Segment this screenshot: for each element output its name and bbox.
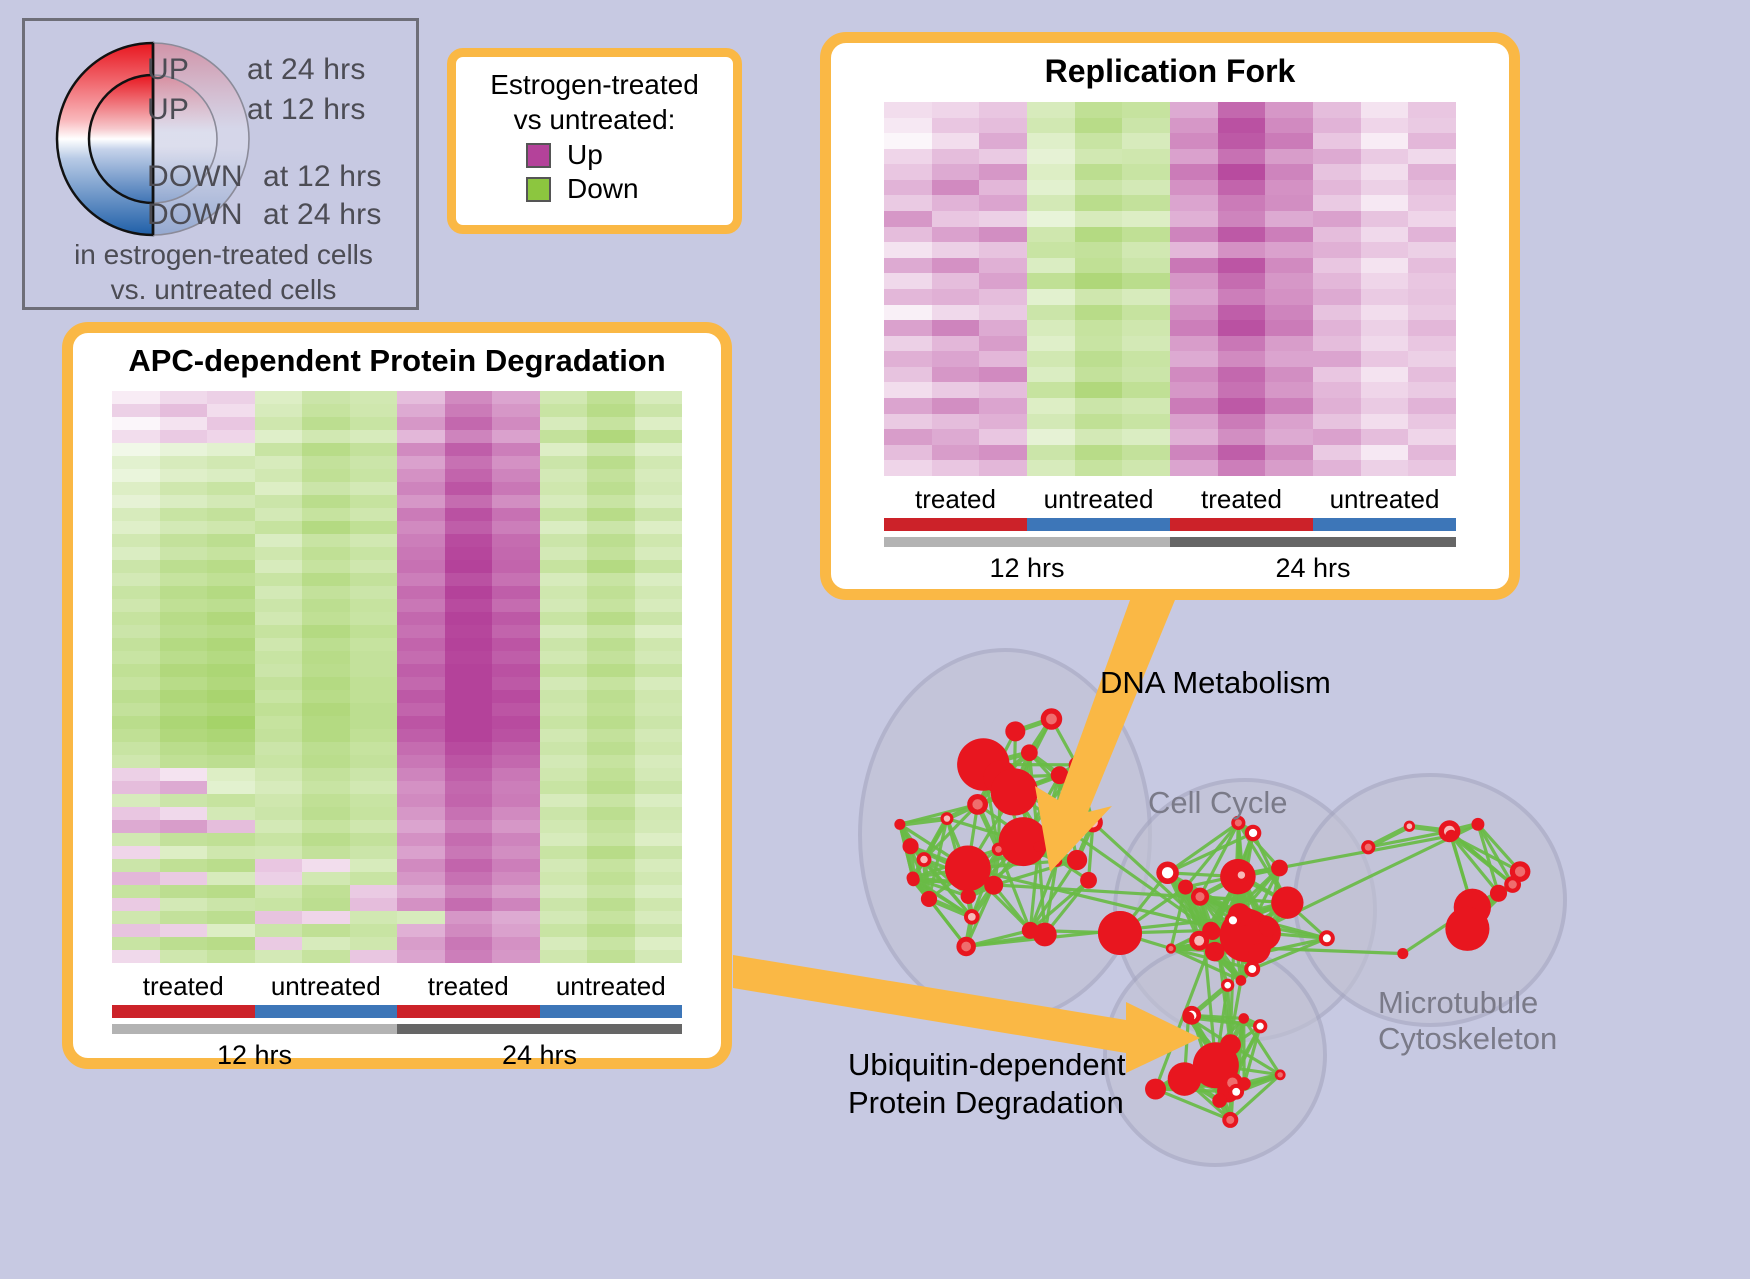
heatmap-cell bbox=[884, 460, 932, 476]
heatmap-cell bbox=[492, 937, 540, 950]
network-node[interactable] bbox=[902, 838, 918, 854]
heatmap-cell bbox=[160, 885, 208, 898]
heatmap-cell bbox=[540, 599, 588, 612]
heatmap-cell bbox=[302, 950, 350, 963]
network-node[interactable] bbox=[1245, 825, 1262, 842]
heatmap-cell bbox=[207, 898, 255, 911]
heatmap-cell bbox=[207, 586, 255, 599]
heatmap-cell bbox=[160, 794, 208, 807]
heatmap-cell bbox=[979, 414, 1027, 430]
heatmap-cell bbox=[160, 911, 208, 924]
heatmap-cell bbox=[635, 469, 683, 482]
heatmap-cell bbox=[979, 195, 1027, 211]
network-node[interactable] bbox=[1022, 922, 1039, 939]
heatmap-cell bbox=[540, 625, 588, 638]
heatmap-cell bbox=[397, 677, 445, 690]
heatmap-cell bbox=[160, 599, 208, 612]
heatmap-cell bbox=[1122, 227, 1170, 243]
network-node[interactable] bbox=[1222, 1112, 1238, 1128]
heatmap-cell bbox=[932, 195, 980, 211]
heatmap-cell bbox=[932, 149, 980, 165]
heatmap-cell bbox=[1027, 242, 1075, 258]
heatmap-cell bbox=[1265, 242, 1313, 258]
heatmap-cell bbox=[445, 560, 493, 573]
heatmap-cell bbox=[979, 336, 1027, 352]
network-node[interactable] bbox=[956, 937, 975, 956]
heatmap-cell bbox=[445, 547, 493, 560]
network-node[interactable] bbox=[1041, 708, 1063, 730]
network-node[interactable] bbox=[1504, 876, 1521, 893]
heatmap-cell bbox=[884, 336, 932, 352]
heatmap-cell bbox=[445, 482, 493, 495]
heatmap-cell bbox=[1361, 414, 1409, 430]
heatmap-cell bbox=[207, 469, 255, 482]
network-node[interactable] bbox=[1145, 1079, 1166, 1100]
heatmap-cell bbox=[302, 599, 350, 612]
heatmap-cell bbox=[540, 404, 588, 417]
heatmap-cell bbox=[1408, 164, 1456, 180]
timepoint-bar-24hrs bbox=[1170, 537, 1456, 547]
heatmap-cell bbox=[492, 547, 540, 560]
network-node[interactable] bbox=[1445, 907, 1489, 951]
heatmap-cell bbox=[635, 573, 683, 586]
network-node[interactable] bbox=[1156, 862, 1179, 885]
network-node[interactable] bbox=[1490, 885, 1507, 902]
heatmap-cell bbox=[445, 638, 493, 651]
network-node[interactable] bbox=[1361, 840, 1375, 854]
network-node[interactable] bbox=[1234, 868, 1249, 883]
heatmap-cell bbox=[1408, 258, 1456, 274]
heatmap-cell bbox=[397, 547, 445, 560]
network-node[interactable] bbox=[1271, 887, 1303, 919]
heatmap-cell bbox=[112, 716, 160, 729]
heatmap-cell bbox=[492, 586, 540, 599]
heatmap-cell bbox=[255, 651, 303, 664]
network-node[interactable] bbox=[1248, 944, 1267, 963]
heatmap-cell bbox=[540, 716, 588, 729]
heatmap-cell bbox=[255, 469, 303, 482]
heatmap-cell bbox=[1361, 273, 1409, 289]
heatmap-cell bbox=[302, 807, 350, 820]
network-node[interactable] bbox=[1253, 1019, 1267, 1033]
heatmap-cell bbox=[350, 599, 398, 612]
heatmap-cell bbox=[540, 456, 588, 469]
heatmap-cell bbox=[492, 521, 540, 534]
heatmap-cell bbox=[1313, 258, 1361, 274]
heatmap-cell bbox=[207, 521, 255, 534]
network-node[interactable] bbox=[907, 874, 920, 887]
heatmap-cell bbox=[255, 430, 303, 443]
heatmap-cell bbox=[207, 807, 255, 820]
heatmap-cell bbox=[492, 911, 540, 924]
heatmap-cell bbox=[160, 482, 208, 495]
heatmap-cell bbox=[255, 885, 303, 898]
heatmap-cell bbox=[350, 950, 398, 963]
heatmap-cell bbox=[1265, 289, 1313, 305]
network-node[interactable] bbox=[1021, 744, 1038, 761]
network-node[interactable] bbox=[1182, 1012, 1194, 1024]
heatmap-cell bbox=[1265, 180, 1313, 196]
heatmap-cell bbox=[445, 456, 493, 469]
heatmap-cell bbox=[1408, 351, 1456, 367]
heatmap-cell bbox=[540, 430, 588, 443]
heatmap-cell bbox=[1122, 149, 1170, 165]
heatmap-cell bbox=[1170, 289, 1218, 305]
heatmap-cell bbox=[587, 768, 635, 781]
heatmap-cell bbox=[1218, 102, 1266, 118]
condition-label: treated bbox=[397, 971, 540, 1002]
heatmap-cell bbox=[492, 456, 540, 469]
heatmap-cell bbox=[112, 833, 160, 846]
heatmap-cell bbox=[1361, 382, 1409, 398]
heatmap-cell bbox=[884, 180, 932, 196]
network-node[interactable] bbox=[1238, 1013, 1249, 1024]
heatmap-cell bbox=[635, 404, 683, 417]
heatmap-cell bbox=[587, 391, 635, 404]
heatmap-cell bbox=[884, 133, 932, 149]
heatmap-cell bbox=[302, 508, 350, 521]
heatmap-cell bbox=[1075, 211, 1123, 227]
heatmap-cell bbox=[1122, 102, 1170, 118]
network-node[interactable] bbox=[999, 817, 1048, 866]
heatmap-cell bbox=[160, 846, 208, 859]
condition-bar-treated bbox=[112, 1005, 255, 1018]
heatmap-cell bbox=[587, 924, 635, 937]
heatmap-cell bbox=[160, 677, 208, 690]
timepoint-labels-replication-fork: 12 hrs24 hrs bbox=[884, 553, 1456, 584]
heatmap-cell bbox=[112, 573, 160, 586]
heatmap-cell bbox=[1170, 305, 1218, 321]
heatmap-cell bbox=[635, 898, 683, 911]
network-node[interactable] bbox=[1397, 948, 1408, 959]
network-node[interactable] bbox=[1051, 856, 1062, 867]
heatmap-cell bbox=[492, 859, 540, 872]
heatmap-cell bbox=[492, 508, 540, 521]
condition-bar-treated bbox=[397, 1005, 540, 1018]
heatmap-cell bbox=[1218, 164, 1266, 180]
heatmap-cell bbox=[350, 612, 398, 625]
network-node[interactable] bbox=[992, 843, 1005, 856]
network-node[interactable] bbox=[1212, 1093, 1227, 1108]
heatmap-cell bbox=[302, 443, 350, 456]
heatmap-cell bbox=[255, 859, 303, 872]
heatmap-cell bbox=[884, 258, 932, 274]
heatmap-cell bbox=[255, 729, 303, 742]
heatmap-cell bbox=[302, 716, 350, 729]
network-node[interactable] bbox=[1178, 880, 1193, 895]
condition-bar-untreated bbox=[540, 1005, 683, 1018]
heatmap-cell bbox=[350, 820, 398, 833]
heatmap-cell bbox=[445, 833, 493, 846]
heatmap-cell bbox=[1027, 289, 1075, 305]
network-node[interactable] bbox=[1005, 721, 1025, 741]
figure-canvas: UP at 24 hrs UP at 12 hrs DOWN at 12 hrs… bbox=[0, 0, 1750, 1279]
condition-label: untreated bbox=[540, 971, 683, 1002]
heatmap-cell bbox=[255, 612, 303, 625]
network-node[interactable] bbox=[921, 891, 937, 907]
heatmap-cell bbox=[1170, 445, 1218, 461]
heatmap-cell bbox=[350, 664, 398, 677]
network-node[interactable] bbox=[1271, 860, 1288, 877]
heatmap-cell bbox=[160, 456, 208, 469]
heatmap-cell bbox=[1122, 242, 1170, 258]
network-node[interactable] bbox=[917, 852, 932, 867]
heatmap-cell bbox=[350, 534, 398, 547]
heatmap-cell bbox=[397, 625, 445, 638]
heatmap-cell bbox=[160, 586, 208, 599]
network-node[interactable] bbox=[1404, 821, 1415, 832]
heatmap-cell bbox=[397, 651, 445, 664]
heatmap-cell bbox=[884, 118, 932, 134]
heatmap-cell bbox=[492, 924, 540, 937]
heatmap-cell bbox=[932, 460, 980, 476]
network-node[interactable] bbox=[1244, 961, 1260, 977]
heatmap-cell bbox=[884, 305, 932, 321]
heatmap-cell bbox=[1170, 367, 1218, 383]
heatmap-cell bbox=[932, 351, 980, 367]
heatmap-cell bbox=[884, 195, 932, 211]
heatmap-cell bbox=[255, 664, 303, 677]
network-node[interactable] bbox=[984, 876, 1003, 895]
network-node[interactable] bbox=[1080, 872, 1097, 889]
heatmap-cell bbox=[160, 521, 208, 534]
heatmap-cell bbox=[1265, 164, 1313, 180]
ring-legend-box: UP at 24 hrs UP at 12 hrs DOWN at 12 hrs… bbox=[22, 18, 419, 310]
heatmap-cell bbox=[160, 547, 208, 560]
heatmap-cell bbox=[1075, 149, 1123, 165]
heatmap-cell bbox=[255, 573, 303, 586]
heatmap-cell bbox=[207, 937, 255, 950]
heatmap-cell bbox=[160, 612, 208, 625]
heatmap-cell bbox=[1122, 429, 1170, 445]
heatmap-cell bbox=[1027, 336, 1075, 352]
heatmap-cell bbox=[635, 495, 683, 508]
heatmap-cell bbox=[445, 781, 493, 794]
heatmap-cell bbox=[540, 742, 588, 755]
network-node[interactable] bbox=[894, 819, 905, 830]
heatmap-cell bbox=[112, 742, 160, 755]
condition-label: treated bbox=[884, 484, 1027, 515]
heatmap-cell bbox=[1361, 367, 1409, 383]
heatmap-cell bbox=[160, 391, 208, 404]
heatmap-cell bbox=[1122, 414, 1170, 430]
network-node[interactable] bbox=[1259, 918, 1278, 937]
heatmap-cell bbox=[255, 547, 303, 560]
heatmap-cell bbox=[932, 242, 980, 258]
heatmap-cell bbox=[350, 846, 398, 859]
heatmap-cell bbox=[540, 612, 588, 625]
heatmap-cell bbox=[1170, 133, 1218, 149]
heatmap-cell bbox=[1075, 258, 1123, 274]
network-node[interactable] bbox=[1067, 850, 1087, 870]
heatmap-cell bbox=[492, 625, 540, 638]
heatmap-cell bbox=[1313, 429, 1361, 445]
heatmap-cell bbox=[1027, 258, 1075, 274]
network-node[interactable] bbox=[1220, 1034, 1241, 1055]
heatmap-cell bbox=[884, 429, 932, 445]
heatmap-cell bbox=[445, 703, 493, 716]
heatmap-cell bbox=[1122, 195, 1170, 211]
heatmap-cell bbox=[635, 664, 683, 677]
down-color-swatch bbox=[526, 177, 551, 202]
heatmap-cell bbox=[492, 391, 540, 404]
heatmap-cell bbox=[160, 729, 208, 742]
network-node[interactable] bbox=[1221, 979, 1234, 992]
heatmap-cell bbox=[492, 898, 540, 911]
heatmap-cell bbox=[112, 482, 160, 495]
network-node[interactable] bbox=[945, 845, 991, 891]
network-node[interactable] bbox=[967, 794, 988, 815]
heatmap-cell bbox=[1361, 211, 1409, 227]
heatmap-cell bbox=[1265, 305, 1313, 321]
network-node[interactable] bbox=[961, 889, 976, 904]
heatmap-cell bbox=[1408, 180, 1456, 196]
heatmap-cell bbox=[1122, 273, 1170, 289]
heatmap-cell bbox=[350, 937, 398, 950]
heatmap-cell bbox=[255, 703, 303, 716]
network-node[interactable] bbox=[1098, 911, 1142, 955]
panel-apc-degradation: APC-dependent Protein Degradation treate… bbox=[62, 322, 732, 1069]
network-node[interactable] bbox=[941, 812, 954, 825]
heatmap-cell bbox=[350, 781, 398, 794]
heatmap-cell bbox=[492, 768, 540, 781]
heatmap-cell bbox=[302, 937, 350, 950]
network-node[interactable] bbox=[1202, 922, 1219, 939]
heatmap-cell bbox=[540, 846, 588, 859]
panel-replication-fork: Replication Fork treateduntreatedtreated… bbox=[820, 32, 1520, 600]
heatmap-cell bbox=[397, 599, 445, 612]
heatmap-cell bbox=[302, 560, 350, 573]
heatmap-cell bbox=[492, 677, 540, 690]
heatmap-cell bbox=[492, 404, 540, 417]
heatmap-cell bbox=[1265, 320, 1313, 336]
heatmap-cell bbox=[635, 625, 683, 638]
heatmap-cell bbox=[445, 950, 493, 963]
heatmap-cell bbox=[492, 495, 540, 508]
network-node[interactable] bbox=[1033, 842, 1043, 852]
heatmap-cell bbox=[302, 911, 350, 924]
heatmap-cell bbox=[1218, 320, 1266, 336]
heatmap-cell bbox=[587, 911, 635, 924]
panel-title-replication-fork: Replication Fork bbox=[831, 53, 1509, 90]
network-node[interactable] bbox=[1471, 818, 1484, 831]
timepoint-label: 12 hrs bbox=[112, 1040, 397, 1071]
heatmap-cell bbox=[160, 781, 208, 794]
heatmap-cell bbox=[1218, 429, 1266, 445]
network-node[interactable] bbox=[964, 909, 980, 925]
heatmap-cell bbox=[302, 924, 350, 937]
heatmap-cell bbox=[255, 677, 303, 690]
heatmap-cell bbox=[587, 404, 635, 417]
heatmap-cell bbox=[540, 885, 588, 898]
heatmap-cell bbox=[1361, 320, 1409, 336]
heatmap-cell bbox=[350, 729, 398, 742]
network-node[interactable] bbox=[991, 768, 1038, 815]
network-node[interactable] bbox=[1213, 943, 1223, 953]
heatmap-cell bbox=[207, 742, 255, 755]
heatmap-cell bbox=[1170, 242, 1218, 258]
heatmap-cell bbox=[884, 382, 932, 398]
heatmap-cell bbox=[112, 638, 160, 651]
heatmap-cell bbox=[635, 716, 683, 729]
network-node[interactable] bbox=[1166, 943, 1176, 953]
network-node[interactable] bbox=[1051, 766, 1069, 784]
heatmap-cell bbox=[540, 924, 588, 937]
network-node[interactable] bbox=[1238, 1077, 1251, 1090]
heatmap-cell bbox=[932, 102, 980, 118]
heatmap-cell bbox=[255, 924, 303, 937]
heatmap-cell bbox=[635, 586, 683, 599]
network-node[interactable] bbox=[1083, 813, 1103, 833]
heatmap-cell bbox=[932, 305, 980, 321]
heatmap-cell bbox=[1313, 195, 1361, 211]
heatmap-cell bbox=[302, 534, 350, 547]
heatmap-cell bbox=[207, 833, 255, 846]
heatmap-cell bbox=[112, 417, 160, 430]
heatmap-cell bbox=[932, 118, 980, 134]
heatmap-cell bbox=[1218, 414, 1266, 430]
heatmap-cell bbox=[255, 833, 303, 846]
heatmap-cell bbox=[1361, 242, 1409, 258]
heatmap-cell bbox=[1122, 367, 1170, 383]
heatmap-cell bbox=[112, 846, 160, 859]
heatmap-cell bbox=[160, 768, 208, 781]
heatmap-cell bbox=[1075, 414, 1123, 430]
heatmap-cell bbox=[979, 118, 1027, 134]
network-node[interactable] bbox=[1275, 1069, 1286, 1080]
heatmap-cell bbox=[1361, 164, 1409, 180]
heatmap-cell bbox=[587, 443, 635, 456]
heatmap-cell bbox=[350, 677, 398, 690]
heatmap-cell bbox=[1265, 133, 1313, 149]
heatmap-cell bbox=[397, 898, 445, 911]
heatmap-cell bbox=[207, 820, 255, 833]
heatmap-cell bbox=[1361, 351, 1409, 367]
heatmap-cell bbox=[207, 859, 255, 872]
heatmap-cell bbox=[587, 469, 635, 482]
heatmap-cell bbox=[587, 638, 635, 651]
cluster-label-ubiquitin-line1: Ubiquitin-dependent bbox=[848, 1046, 1126, 1084]
heatmap-cell bbox=[1170, 351, 1218, 367]
heatmap-cell bbox=[540, 508, 588, 521]
heatmap-cell bbox=[350, 755, 398, 768]
heatmap-cell bbox=[160, 924, 208, 937]
heatmap-cell bbox=[302, 638, 350, 651]
network-node[interactable] bbox=[1225, 912, 1241, 928]
heatmap-cell bbox=[112, 508, 160, 521]
heatmap-cell bbox=[1027, 445, 1075, 461]
network-node[interactable] bbox=[1191, 888, 1209, 906]
network-node[interactable] bbox=[1445, 830, 1457, 842]
heatmap-cell bbox=[1027, 273, 1075, 289]
heatmap-cell bbox=[207, 404, 255, 417]
heatmap-cell bbox=[1218, 382, 1266, 398]
network-node[interactable] bbox=[1319, 930, 1335, 946]
condition-label: untreated bbox=[1313, 484, 1456, 515]
network-node[interactable] bbox=[1069, 757, 1085, 773]
heatmap-cell bbox=[397, 911, 445, 924]
heatmap-cell bbox=[979, 180, 1027, 196]
timepoint-label: 24 hrs bbox=[397, 1040, 682, 1071]
heatmap-cell bbox=[979, 398, 1027, 414]
heatmap-cell bbox=[397, 417, 445, 430]
heatmap-cell bbox=[1075, 180, 1123, 196]
heatmap-cell bbox=[397, 638, 445, 651]
network-node[interactable] bbox=[1236, 975, 1247, 986]
heatmap-cell bbox=[540, 794, 588, 807]
heatmap-cell bbox=[540, 469, 588, 482]
heatmap-cell bbox=[112, 924, 160, 937]
